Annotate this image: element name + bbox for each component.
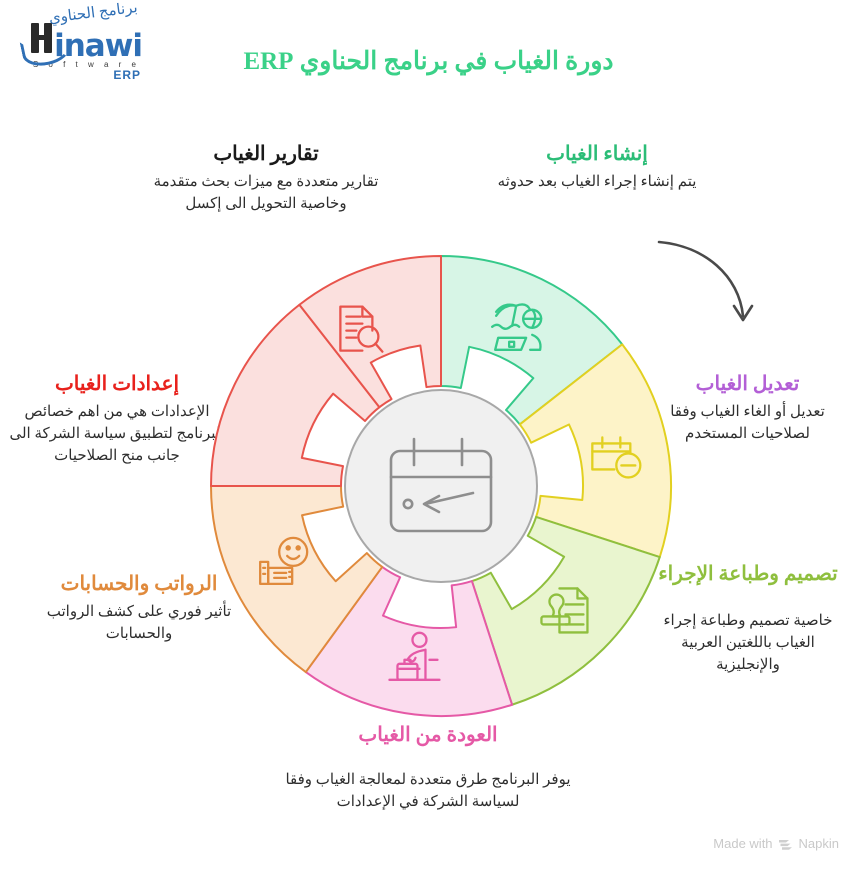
callout-edit-body: تعديل أو الغاء الغياب وفقا لصلاحيات المس… <box>645 402 850 446</box>
absence-cycle-wheel <box>208 253 674 719</box>
callout-edit-heading: تعديل الغياب <box>645 372 850 397</box>
page-title: دورة الغياب في برنامج الحناوي ERP <box>0 46 857 76</box>
callout-settings: إعدادات الغياب الإعدادات هي من اهم خصائص… <box>6 372 228 467</box>
callout-create-body: يتم إنشاء إجراء الغياب بعد حدوثه <box>492 172 702 194</box>
footer-attribution: Made with Napkin <box>713 836 839 851</box>
callout-print: تصميم وطباعة الإجراء خاصية تصميم وطباعة … <box>648 562 848 676</box>
callout-return-body: يوفر البرنامج طرق متعددة لمعالجة الغياب … <box>268 770 588 814</box>
callout-create-heading: إنشاء الغياب <box>492 142 702 167</box>
callout-edit: تعديل الغياب تعديل أو الغاء الغياب وفقا … <box>645 372 850 446</box>
callout-settings-body: الإعدادات هي من اهم خصائص البرنامج لتطبي… <box>6 402 228 467</box>
wheel-center <box>345 390 537 582</box>
callout-print-heading: تصميم وطباعة الإجراء <box>648 562 848 587</box>
callout-reports: تقارير الغياب تقارير متعددة مع ميزات بحث… <box>150 142 382 216</box>
napkin-logo-icon <box>778 837 794 851</box>
callout-reports-body: تقارير متعددة مع ميزات بحث متقدمة وخاصية… <box>150 172 382 216</box>
callout-return: العودة من الغياب يوفر البرنامج طرق متعدد… <box>268 723 588 814</box>
callout-return-heading: العودة من الغياب <box>268 723 588 748</box>
callout-print-body: خاصية تصميم وطباعة إجراء الغياب باللغتين… <box>648 611 848 676</box>
callout-create: إنشاء الغياب يتم إنشاء إجراء الغياب بعد … <box>492 142 702 194</box>
footer-made-with-label: Made with <box>713 836 772 851</box>
footer-brand-label: Napkin <box>799 836 839 851</box>
callout-settings-heading: إعدادات الغياب <box>6 372 228 397</box>
callout-reports-heading: تقارير الغياب <box>150 142 382 167</box>
curved-down-arrow <box>655 232 775 352</box>
